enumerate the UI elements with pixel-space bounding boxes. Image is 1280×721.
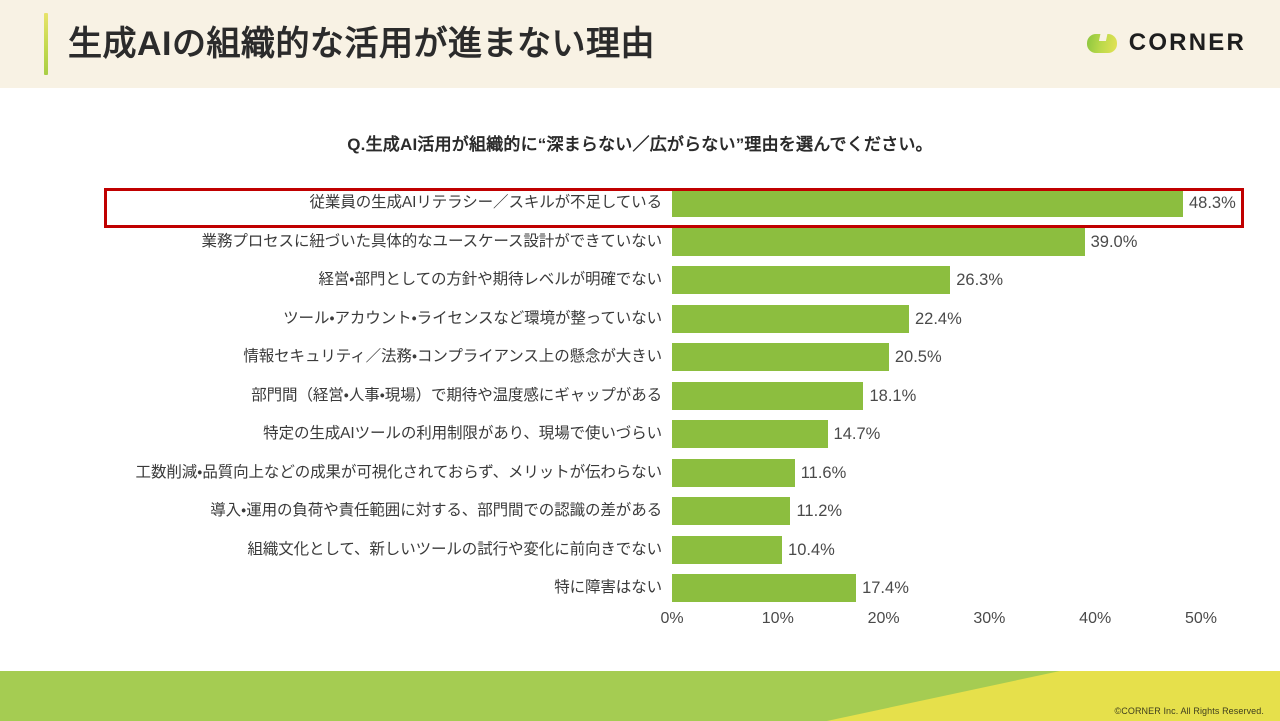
bar-value-label: 39.0%: [1091, 228, 1138, 256]
bar-track: 18.1%: [672, 382, 863, 410]
x-axis-tick: 30%: [973, 610, 1005, 628]
bar-value-label: 20.5%: [895, 343, 942, 371]
bar-value-label: 14.7%: [834, 420, 881, 448]
x-axis-tick: 50%: [1185, 610, 1217, 628]
chart-row: 特に障害はない17.4%: [0, 569, 1280, 608]
bar-track: 14.7%: [672, 420, 828, 448]
bar: [672, 459, 795, 487]
x-axis: 0%10%20%30%40%50%: [0, 610, 1280, 640]
bar: [672, 228, 1085, 256]
x-axis-tick: 10%: [762, 610, 794, 628]
chart-row: 工数削減・品質向上などの成果が可視化されておらず、メリットが伝わらない11.6%: [0, 454, 1280, 493]
bar-track: 26.3%: [672, 266, 950, 294]
bar: [672, 266, 950, 294]
bar-value-label: 18.1%: [869, 382, 916, 410]
bar-value-label: 22.4%: [915, 305, 962, 333]
bar: [672, 420, 828, 448]
bar-track: 22.4%: [672, 305, 909, 333]
chart-row: 情報セキュリティ／法務・コンプライアンス上の懸念が大きい20.5%: [0, 338, 1280, 377]
bar-track: 10.4%: [672, 536, 782, 564]
bar-category-label: 部門間（経営・人事・現場）で期待や温度感にギャップがある: [110, 377, 662, 416]
bar-category-label: 経営・部門としての方針や期待レベルが明確でない: [110, 261, 662, 300]
bar: [672, 343, 889, 371]
bar: [672, 382, 863, 410]
bar: [672, 189, 1183, 217]
bar-category-label: 情報セキュリティ／法務・コンプライアンス上の懸念が大きい: [110, 338, 662, 377]
chart-row: ツール・アカウント・ライセンスなど環境が整っていない22.4%: [0, 300, 1280, 339]
bar-value-label: 10.4%: [788, 536, 835, 564]
header-accent-bar: [44, 13, 48, 75]
chart-row: 特定の生成AIツールの利用制限があり、現場で使いづらい14.7%: [0, 415, 1280, 454]
bar-track: 11.6%: [672, 459, 795, 487]
bar-category-label: 組織文化として、新しいツールの試行や変化に前向きでない: [110, 531, 662, 570]
bar-category-label: 工数削減・品質向上などの成果が可視化されておらず、メリットが伝わらない: [110, 454, 662, 493]
chart-row: 導入・運用の負荷や責任範囲に対する、部門間での認識の差がある11.2%: [0, 492, 1280, 531]
bar: [672, 574, 856, 602]
slide-footer: ©CORNER Inc. All Rights Reserved.: [0, 671, 1280, 721]
chart-question: Q.生成AI活用が組織的に“深まらない／広がらない”理由を選んでください。: [0, 130, 1280, 155]
bar-category-label: 特に障害はない: [110, 569, 662, 608]
bar-value-label: 17.4%: [862, 574, 909, 602]
bar-value-label: 48.3%: [1189, 189, 1236, 217]
bar-value-label: 11.6%: [801, 459, 847, 487]
chart-row: 従業員の生成AIリテラシー／スキルが不足している48.3%: [0, 184, 1280, 223]
x-axis-tick: 40%: [1079, 610, 1111, 628]
x-axis-tick: 20%: [868, 610, 900, 628]
bar-track: 48.3%: [672, 189, 1183, 217]
bar: [672, 497, 790, 525]
copyright-text: ©CORNER Inc. All Rights Reserved.: [1115, 706, 1264, 716]
bar-category-label: 特定の生成AIツールの利用制限があり、現場で使いづらい: [110, 415, 662, 454]
bar: [672, 305, 909, 333]
chart-row: 組織文化として、新しいツールの試行や変化に前向きでない10.4%: [0, 531, 1280, 570]
bar-value-label: 26.3%: [956, 266, 1003, 294]
slide-header: 生成AIの組織的な活用が進まない理由 CORNER: [0, 0, 1280, 88]
x-axis-tick: 0%: [660, 610, 683, 628]
bar-value-label: 11.2%: [796, 497, 842, 525]
brand-name: CORNER: [1129, 29, 1246, 57]
page-title: 生成AIの組織的な活用が進まない理由: [68, 18, 655, 70]
bar-chart: 従業員の生成AIリテラシー／スキルが不足している48.3%業務プロセスに紐づいた…: [0, 184, 1280, 644]
bar-track: 17.4%: [672, 574, 856, 602]
chart-row: 部門間（経営・人事・現場）で期待や温度感にギャップがある18.1%: [0, 377, 1280, 416]
bar: [672, 536, 782, 564]
bar-track: 11.2%: [672, 497, 790, 525]
bar-category-label: 従業員の生成AIリテラシー／スキルが不足している: [110, 184, 662, 223]
slide-canvas: 生成AIの組織的な活用が進まない理由 CORNER Q.生成AI活用が組織的に“…: [0, 0, 1280, 721]
bar-track: 20.5%: [672, 343, 889, 371]
bar-category-label: 業務プロセスに紐づいた具体的なユースケース設計ができていない: [110, 223, 662, 262]
brand-logo: CORNER: [1087, 29, 1246, 57]
bar-category-label: ツール・アカウント・ライセンスなど環境が整っていない: [110, 300, 662, 339]
bar-track: 39.0%: [672, 228, 1085, 256]
corner-logo-icon: [1087, 34, 1117, 53]
bar-category-label: 導入・運用の負荷や責任範囲に対する、部門間での認識の差がある: [110, 492, 662, 531]
chart-row: 業務プロセスに紐づいた具体的なユースケース設計ができていない39.0%: [0, 223, 1280, 262]
chart-row: 経営・部門としての方針や期待レベルが明確でない26.3%: [0, 261, 1280, 300]
